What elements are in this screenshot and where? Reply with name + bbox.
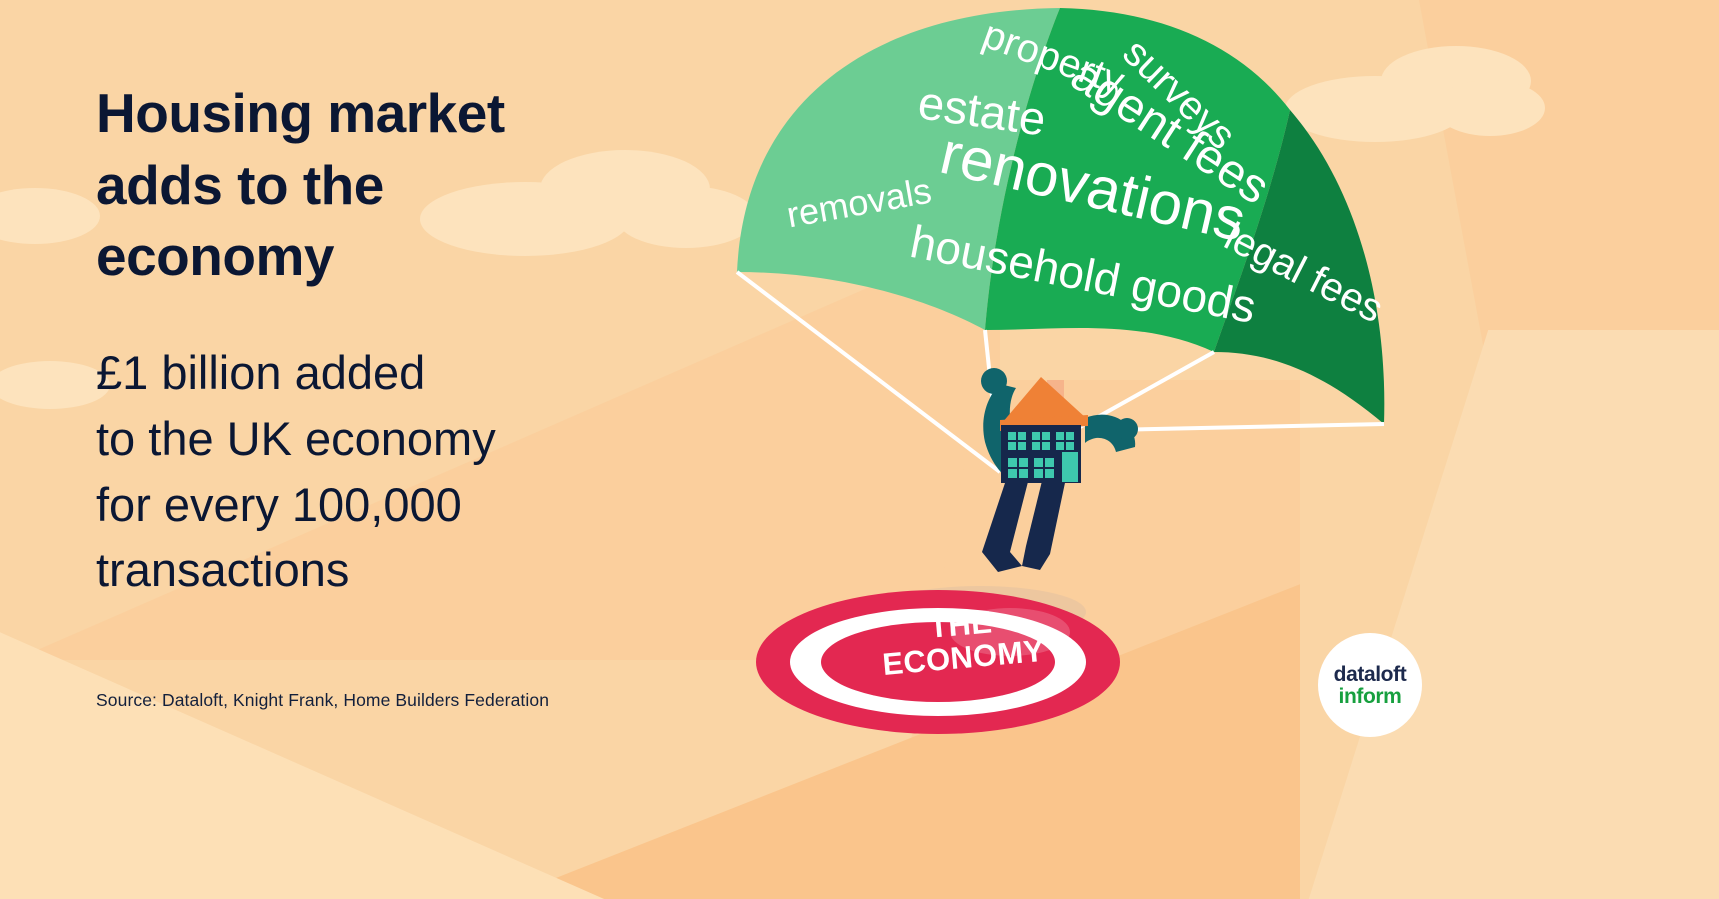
house-character-group [981,368,1138,572]
dataloft-inform-logo: dataloft inform [1318,633,1422,737]
page-title: Housing market adds to the economy [96,78,716,293]
house-right-leg [1022,478,1066,570]
subhead-line-2: to the UK economy [96,406,736,472]
parachute-string-far-right [1110,424,1384,430]
headline-line-2: adds to the [96,150,716,222]
house-side-door [1062,452,1078,482]
house-left-leg [982,474,1030,572]
subhead-line-3: for every 100,000 [96,472,736,538]
headline-line-1: Housing market [96,78,716,150]
source-attribution: Source: Dataloft, Knight Frank, Home Bui… [96,690,549,711]
logo-inform-text: inform [1339,686,1402,707]
logo-dataloft-text: dataloft [1334,664,1407,685]
key-statistic: £1 billion added to the UK economy for e… [96,340,736,603]
house-right-hand [1116,418,1138,440]
headline-line-3: economy [96,221,716,293]
subhead-line-1: £1 billion added [96,340,736,406]
house-left-hand [981,368,1007,394]
infographic-canvas: Housing market adds to the economy £1 bi… [0,0,1719,899]
subhead-line-4: transactions [96,537,736,603]
